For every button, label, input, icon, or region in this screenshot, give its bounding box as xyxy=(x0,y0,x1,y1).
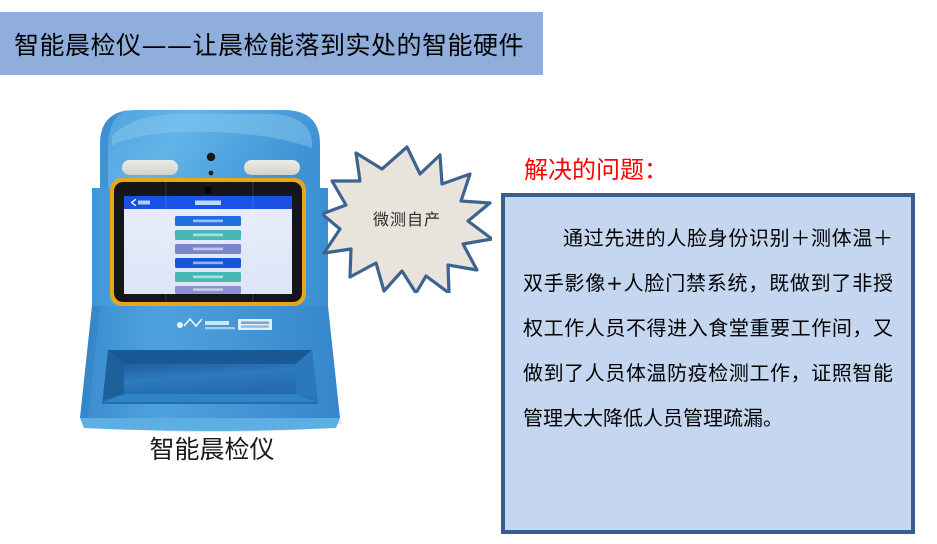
problem-heading: 解决的问题： xyxy=(524,150,668,185)
problem-body-text: 通过先进的人脸身份识别＋测体温＋双手影像+人脸门禁系统，既做到了非授权工作人员不… xyxy=(505,197,911,441)
indicator-lamp-right xyxy=(244,160,300,175)
device-caption: 智能晨检仪 xyxy=(62,430,362,466)
camera-lens-icon xyxy=(207,153,215,161)
slide-title-banner: 智能晨检仪——让晨检能落到实处的智能硬件 xyxy=(0,12,543,75)
sensor-dot-icon xyxy=(209,171,214,176)
screen-camera-icon xyxy=(205,187,212,194)
starburst-shape xyxy=(322,147,492,293)
screen-back-label[interactable] xyxy=(138,201,150,205)
screen-header-title xyxy=(195,201,221,206)
problem-panel: 通过先进的人脸身份识别＋测体温＋双手影像+人脸门禁系统，既做到了非授权工作人员不… xyxy=(501,193,915,534)
indicator-lamp-left xyxy=(122,160,178,175)
callout-starburst xyxy=(322,143,492,293)
page-title: 智能晨检仪——让晨检能落到实处的智能硬件 xyxy=(0,26,524,62)
